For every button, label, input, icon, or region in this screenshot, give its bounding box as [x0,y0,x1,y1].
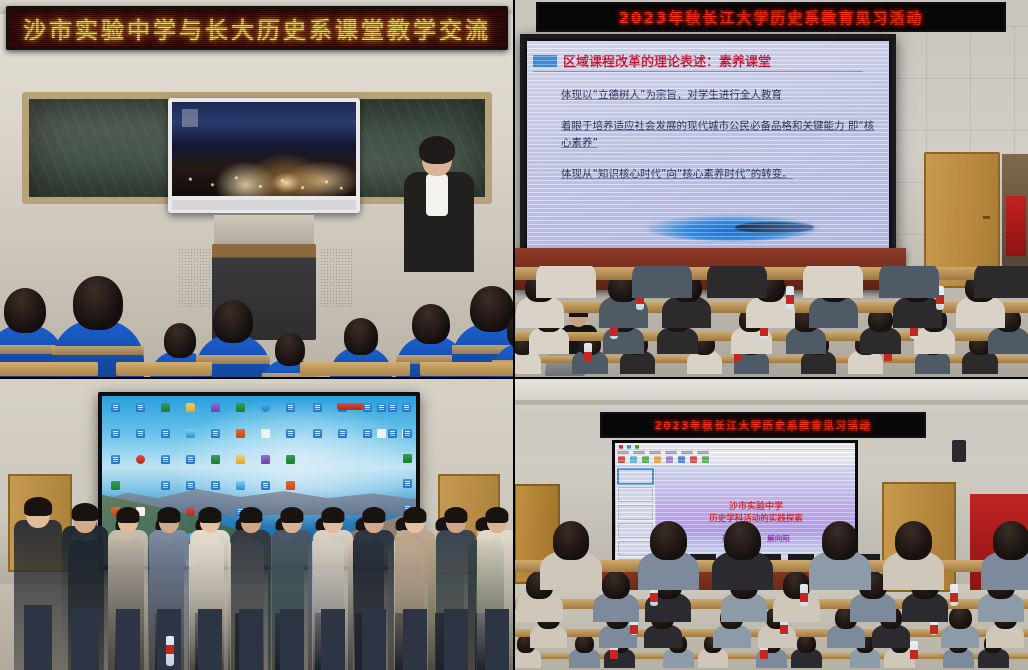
audience-rows [514,266,1028,378]
led-banner-bottom-right: 2023年秋长江大学历史系教育见习活动 [600,412,926,438]
led-banner-text: 2023年秋长江大学历史系教育见习活动 [654,418,871,433]
smartboard-screen-image [172,102,356,196]
group-photo-people [0,465,514,670]
slide-title-underline [533,71,863,72]
smartboard-display[interactable] [168,98,360,213]
slide-thumbnail[interactable] [618,487,653,502]
brand-logo [182,109,198,127]
ceiling-beam [514,400,1028,405]
slide-thumbnail[interactable] [618,469,653,484]
panel-bottom-left-group-photo[interactable] [0,378,514,670]
slide-bullet-2: 着眼于培养适应社会发展的现代城市公民必备品格和关键能力 即“核心素养” [561,118,879,151]
presentation-slide: 区域课程改革的理论表述：素养课堂 体现以“立德树人”为宗旨，对学生进行全人教育 … [527,41,889,277]
led-banner-text: 沙市实验中学与长大历史系课堂教学交流 [23,11,491,45]
hall-ceiling [514,378,1028,410]
teacher-shirt [426,174,448,216]
panel-divider-horizontal [0,377,1028,379]
smartboard-bezel [172,200,356,210]
led-banner-top-left: 沙市实验中学与长大历史系课堂教学交流 [6,6,508,50]
red-banner-through-door [1006,196,1026,256]
window-titlebar [615,443,855,450]
led-banner-top-right: 2023年秋长江大学历史系教育见习活动 [536,2,1006,32]
ribbon-toolbar[interactable] [615,450,855,466]
panel-top-right-lecture[interactable]: 区域课程改革的理论表述：素养课堂 体现以“立德树人”为宗旨，对学生进行全人教育 … [514,0,1028,378]
slide-bullet-1: 体现以“立德树人”为宗旨，对学生进行全人教育 [561,87,879,103]
photo-collage: 沙市实验中学与长大历史系课堂教学交流 区域课程改革的理论表述：素养课堂 体现以“… [0,0,1028,670]
panel-divider-vertical [513,0,515,670]
speaker-icon [952,440,966,462]
led-banner-text: 2023年秋长江大学历史系教育见习活动 [619,7,924,28]
slide-bullet-3: 体现从“知识核心时代”向“核心素养时代”的转变。 [561,166,879,182]
slide-bullets: 体现以“立德树人”为宗旨，对学生进行全人教育 着眼于培养适应社会发展的现代城市公… [561,87,879,197]
ribbon-buttons[interactable] [618,456,709,463]
slide-title-row: 区域课程改革的理论表述：素养课堂 [533,51,771,70]
slide-title: 区域课程改革的理论表述：素养课堂 [563,51,771,70]
projection-screen[interactable]: 区域课程改革的理论表述：素养课堂 体现以“立德树人”为宗旨，对学生进行全人教育 … [520,34,896,284]
slide-heading-school: 沙市实验中学 [729,499,783,512]
slide-accent-chip [533,55,557,67]
teacher-hair [419,136,455,164]
student-rows [0,238,514,378]
slide-decoration-wave [647,215,817,241]
ribbon-tabs[interactable] [617,451,709,454]
panel-bottom-right-lecture-rear[interactable]: 沙市实验中学 历史学科活动的实践探索 历史教研组 解向阳 2023年秋长江大学历… [514,378,1028,670]
audience-rows [514,520,1028,670]
panel-top-left-classroom[interactable]: 沙市实验中学与长大历史系课堂教学交流 [0,0,514,378]
slide-thumbnail[interactable] [618,505,653,520]
